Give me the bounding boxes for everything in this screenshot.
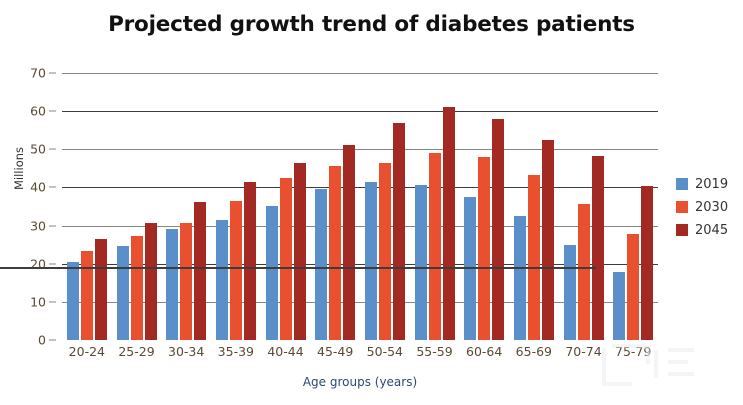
bar-2045-20-24[interactable] bbox=[95, 239, 107, 340]
bar-2030-70-74[interactable] bbox=[578, 204, 590, 340]
x-axis-tick-label-45-49: 45-49 bbox=[317, 344, 353, 359]
bar-2030-55-59[interactable] bbox=[429, 153, 441, 340]
x-axis-tick-label-20-24: 20-24 bbox=[69, 344, 105, 359]
bar-2019-40-44[interactable] bbox=[266, 206, 278, 340]
bar-2045-45-49[interactable] bbox=[343, 145, 355, 340]
bar-2030-20-24[interactable] bbox=[81, 251, 93, 340]
bar-2045-30-34[interactable] bbox=[194, 202, 206, 340]
bar-2045-75-79[interactable] bbox=[641, 186, 653, 340]
legend-swatch-icon bbox=[676, 224, 688, 236]
bar-2019-70-74[interactable] bbox=[564, 245, 576, 340]
x-axis-tick-label-70-74: 70-74 bbox=[565, 344, 601, 359]
bar-2019-50-54[interactable] bbox=[365, 182, 377, 340]
legend-item-2045[interactable]: 2045 bbox=[676, 220, 738, 240]
legend-label: 2030 bbox=[695, 200, 728, 215]
x-axis-tick-label-65-69: 65-69 bbox=[516, 344, 552, 359]
bars-layer bbox=[62, 73, 658, 340]
x-axis: 20-2425-2930-3435-3940-4445-4950-5455-59… bbox=[62, 344, 658, 366]
bar-group-25-29 bbox=[117, 73, 157, 340]
bar-2019-30-34[interactable] bbox=[166, 229, 178, 340]
y-axis-tick-mark bbox=[49, 73, 56, 74]
bar-2045-55-59[interactable] bbox=[443, 107, 455, 340]
bar-2045-65-69[interactable] bbox=[542, 140, 554, 340]
x-axis-tick-label-25-29: 25-29 bbox=[118, 344, 154, 359]
y-axis-tick-label: 60 bbox=[30, 104, 46, 119]
bar-group-50-54 bbox=[365, 73, 405, 340]
bar-group-30-34 bbox=[166, 73, 206, 340]
x-axis-tick-label-30-34: 30-34 bbox=[168, 344, 204, 359]
bar-2019-55-59[interactable] bbox=[415, 185, 427, 340]
x-axis-tick-label-35-39: 35-39 bbox=[218, 344, 254, 359]
bar-2019-35-39[interactable] bbox=[216, 220, 228, 340]
y-axis-tick-mark bbox=[49, 187, 56, 188]
bar-group-70-74 bbox=[564, 73, 604, 340]
legend-label: 2045 bbox=[695, 223, 728, 238]
y-axis-tick-label: 0 bbox=[38, 333, 46, 348]
legend-swatch-icon bbox=[676, 178, 688, 190]
bar-group-75-79 bbox=[613, 73, 653, 340]
bar-group-55-59 bbox=[415, 73, 455, 340]
x-axis-title: Age groups (years) bbox=[62, 375, 658, 389]
bar-group-45-49 bbox=[315, 73, 355, 340]
y-axis-tick-label: 70 bbox=[30, 66, 46, 81]
bar-group-40-44 bbox=[266, 73, 306, 340]
bar-2045-70-74[interactable] bbox=[592, 156, 604, 340]
bar-2030-45-49[interactable] bbox=[329, 166, 341, 340]
bar-group-65-69 bbox=[514, 73, 554, 340]
bar-2019-75-79[interactable] bbox=[613, 272, 625, 340]
legend-label: 2019 bbox=[695, 177, 728, 192]
y-axis-tick-mark bbox=[49, 225, 56, 226]
bar-group-35-39 bbox=[216, 73, 256, 340]
bar-2030-65-69[interactable] bbox=[528, 175, 540, 340]
legend-item-2030[interactable]: 2030 bbox=[676, 197, 738, 217]
bar-2019-25-29[interactable] bbox=[117, 246, 129, 340]
x-axis-line bbox=[0, 267, 596, 269]
bar-2045-40-44[interactable] bbox=[294, 163, 306, 340]
bar-2019-20-24[interactable] bbox=[67, 262, 79, 340]
bar-2045-25-29[interactable] bbox=[145, 223, 157, 340]
bar-2030-60-64[interactable] bbox=[478, 157, 490, 340]
bar-2030-30-34[interactable] bbox=[180, 223, 192, 340]
x-axis-tick-label-50-54: 50-54 bbox=[367, 344, 403, 359]
bar-group-60-64 bbox=[464, 73, 504, 340]
bar-2019-65-69[interactable] bbox=[514, 216, 526, 340]
bar-2045-60-64[interactable] bbox=[492, 119, 504, 340]
y-axis-tick-label: 40 bbox=[30, 180, 46, 195]
y-axis-tick-mark bbox=[49, 340, 56, 341]
legend-item-2019[interactable]: 2019 bbox=[676, 174, 738, 194]
y-axis: 010203040506070 bbox=[0, 73, 56, 340]
x-axis-tick-label-75-79: 75-79 bbox=[615, 344, 651, 359]
bar-2030-25-29[interactable] bbox=[131, 236, 143, 340]
y-axis-tick-mark bbox=[49, 263, 56, 264]
chart-title: Projected growth trend of diabetes patie… bbox=[0, 12, 743, 37]
y-axis-tick-label: 10 bbox=[30, 294, 46, 309]
chart-legend: 201920302045 bbox=[676, 174, 738, 243]
bar-2019-45-49[interactable] bbox=[315, 189, 327, 340]
bar-2030-75-79[interactable] bbox=[627, 234, 639, 340]
y-axis-tick-label: 50 bbox=[30, 142, 46, 157]
bar-2030-50-54[interactable] bbox=[379, 163, 391, 340]
plot-area bbox=[62, 73, 658, 340]
y-axis-tick-mark bbox=[49, 301, 56, 302]
bar-2045-50-54[interactable] bbox=[393, 123, 405, 340]
bar-2030-40-44[interactable] bbox=[280, 178, 292, 340]
x-axis-tick-label-55-59: 55-59 bbox=[416, 344, 452, 359]
x-axis-tick-label-40-44: 40-44 bbox=[267, 344, 303, 359]
x-axis-tick-label-60-64: 60-64 bbox=[466, 344, 502, 359]
y-axis-tick-mark bbox=[49, 111, 56, 112]
bar-2030-35-39[interactable] bbox=[230, 201, 242, 340]
y-axis-tick-mark bbox=[49, 149, 56, 150]
y-axis-title: Millions bbox=[12, 147, 26, 190]
bar-group-20-24 bbox=[67, 73, 107, 340]
y-axis-tick-label: 30 bbox=[30, 218, 46, 233]
legend-swatch-icon bbox=[676, 201, 688, 213]
bar-2045-35-39[interactable] bbox=[244, 182, 256, 340]
